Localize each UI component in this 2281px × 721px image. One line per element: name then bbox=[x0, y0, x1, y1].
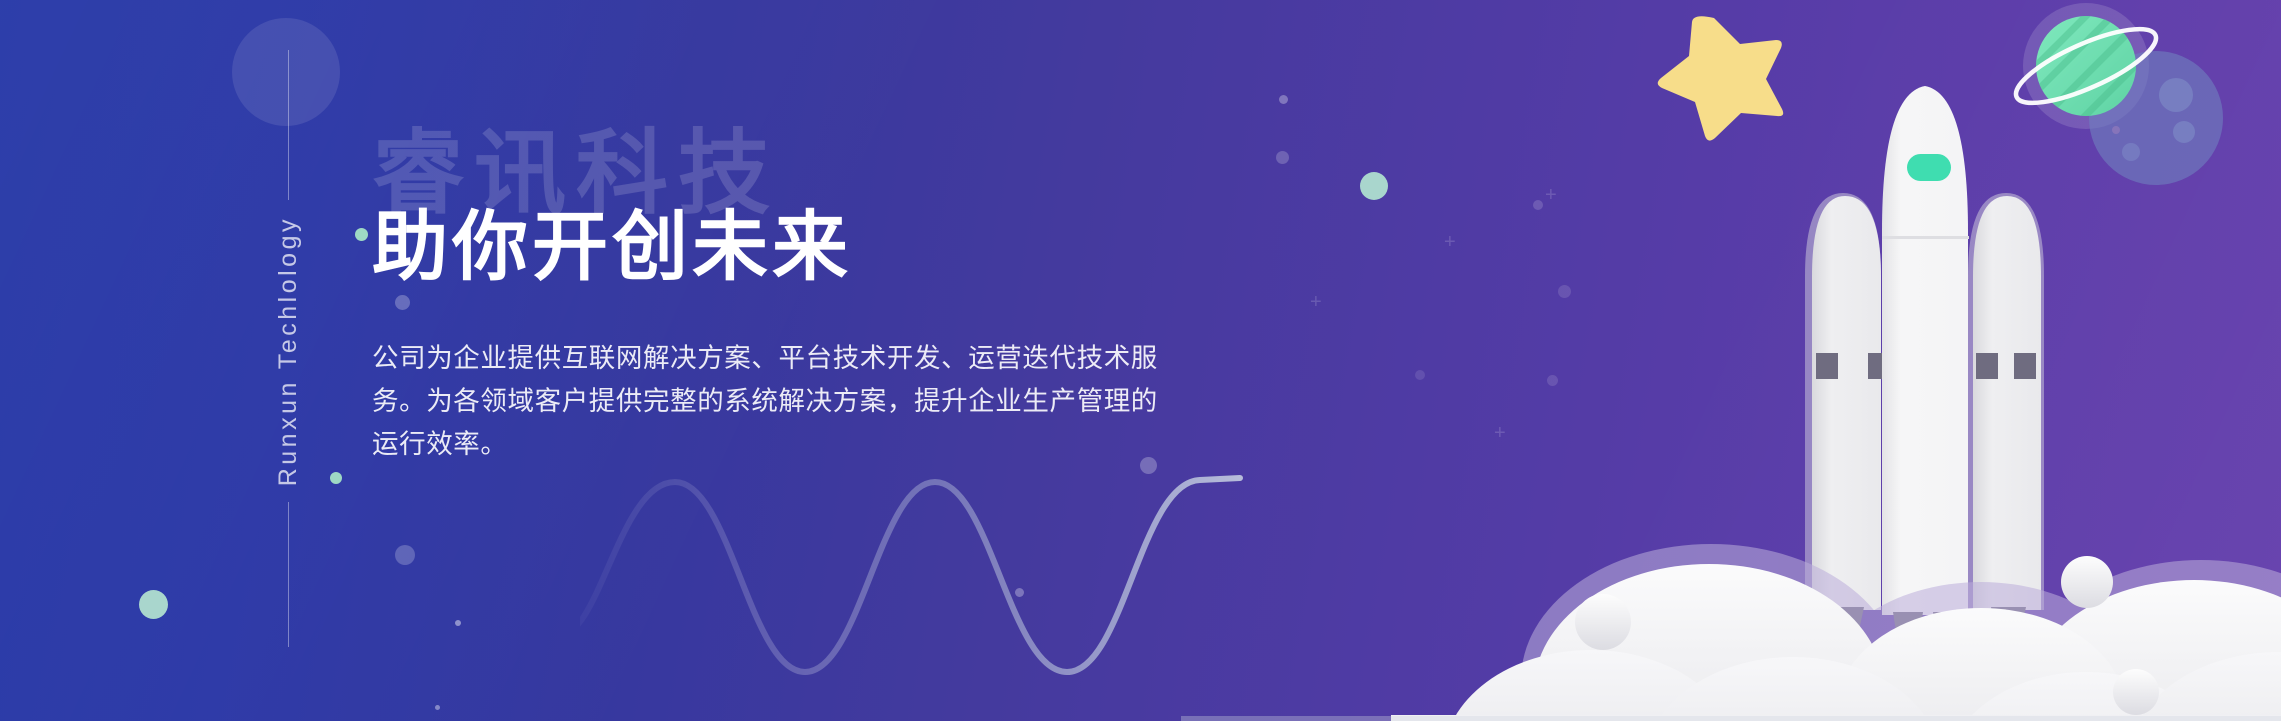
decor-dot bbox=[1533, 200, 1543, 210]
ringed-planet-icon bbox=[2008, 0, 2165, 125]
decor-dot bbox=[1919, 368, 1929, 378]
sparkle-icon: + bbox=[1545, 185, 1557, 205]
decor-dot bbox=[1807, 626, 1818, 637]
decor-bubble bbox=[2113, 669, 2159, 715]
rocket-flames bbox=[1837, 640, 2018, 721]
planet-glow bbox=[2023, 3, 2149, 129]
decor-dot bbox=[139, 590, 168, 619]
decor-dot bbox=[1360, 172, 1388, 200]
star-icon bbox=[1658, 16, 1783, 140]
rocket-window-icon bbox=[1907, 154, 1951, 181]
sparkle-icon: + bbox=[1444, 232, 1456, 252]
decor-dot bbox=[1415, 370, 1425, 380]
vertical-brand-caption: Runxun Techlology bbox=[258, 0, 318, 721]
decor-dot bbox=[355, 228, 368, 241]
decor-dot bbox=[455, 620, 461, 626]
hero-paragraph: 公司为企业提供互联网解决方案、平台技术开发、运营迭代技术服务。为各领域客户提供完… bbox=[372, 337, 1162, 466]
rocket-booster-left bbox=[1805, 193, 1906, 610]
caption-divider-top bbox=[288, 50, 289, 200]
decor-dot bbox=[1558, 285, 1571, 298]
decor-dot bbox=[1276, 151, 1289, 164]
vertical-brand-text: Runxun Techlology bbox=[274, 216, 303, 486]
sparkle-icon: + bbox=[1826, 475, 1838, 495]
hero-banner: + + + + + + + Runxun Techlology 睿讯科技 助你开… bbox=[0, 0, 2281, 721]
moon-icon bbox=[2089, 51, 2223, 185]
rocket-body bbox=[1882, 86, 1969, 615]
rocket-nozzles bbox=[1829, 607, 2026, 645]
decor-bubble bbox=[1575, 594, 1631, 650]
page-title: 助你开创未来 bbox=[372, 210, 1192, 286]
decor-dot bbox=[1279, 95, 1288, 104]
decor-dot bbox=[1547, 375, 1558, 386]
rocket-booster-right bbox=[1947, 193, 2044, 610]
sparkle-icon: + bbox=[1310, 292, 1322, 312]
decor-bubble bbox=[2061, 556, 2113, 608]
decor-dot bbox=[330, 472, 342, 484]
cloud-icon bbox=[1391, 544, 2281, 721]
space-illustration bbox=[1181, 0, 2281, 721]
hero-copy: 睿讯科技 助你开创未来 公司为企业提供互联网解决方案、平台技术开发、运营迭代技术… bbox=[372, 132, 1192, 492]
sparkle-icon: + bbox=[1494, 423, 1506, 443]
caption-divider-bottom bbox=[288, 502, 289, 647]
decor-dot bbox=[435, 705, 440, 710]
decor-dot bbox=[2177, 672, 2189, 684]
decor-dot bbox=[1015, 588, 1024, 597]
decor-dot bbox=[395, 545, 415, 565]
sparkle-icon: + bbox=[1833, 260, 1845, 280]
